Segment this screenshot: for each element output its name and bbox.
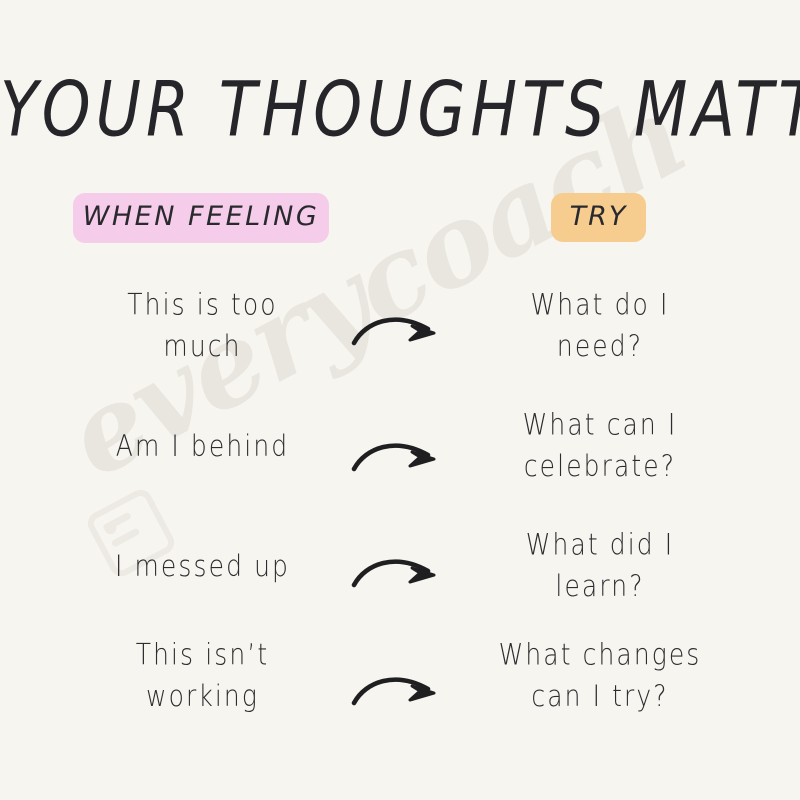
- column-header-try-label: TRY: [570, 203, 628, 230]
- curved-arrow-right-icon: [352, 667, 452, 715]
- feeling-text: Am I behind: [75, 426, 329, 467]
- try-line: can I try?: [470, 677, 729, 718]
- feeling-text: This is too much: [75, 286, 329, 369]
- try-text: What do I need?: [470, 286, 729, 369]
- try-text: What can I celebrate?: [470, 406, 729, 489]
- page-title: YOUR THOUGHTS MATTER: [0, 72, 800, 148]
- curved-arrow-right-icon: [352, 433, 452, 481]
- try-line: What do I: [470, 286, 729, 327]
- thought-row: This is too much What do I need?: [0, 272, 800, 382]
- column-header-when-feeling: WHEN FEELING: [73, 193, 329, 243]
- feeling-line: much: [75, 327, 329, 368]
- try-line: What did I: [470, 526, 729, 567]
- feeling-line: I messed up: [75, 546, 329, 587]
- feeling-text: I messed up: [75, 546, 329, 587]
- feeling-line: This is too: [75, 286, 329, 327]
- feeling-line: This isn’t: [75, 636, 329, 677]
- thought-row: Am I behind What can I celebrate?: [0, 392, 800, 502]
- curved-arrow-right-icon: [352, 307, 452, 355]
- poster-content: YOUR THOUGHTS MATTER WHEN FEELING TRY Th…: [0, 0, 800, 800]
- try-text: What changes can I try?: [470, 636, 729, 719]
- thought-row: This isn’t working What changes can I tr…: [0, 622, 800, 732]
- feeling-line: Am I behind: [75, 426, 329, 467]
- poster-canvas: everycoach YOUR THOUGHTS MATTER WHEN FEE…: [0, 0, 800, 800]
- try-line: need?: [470, 327, 729, 368]
- thought-row: I messed up What did I learn?: [0, 512, 800, 622]
- feeling-line: working: [75, 677, 329, 718]
- feeling-text: This isn’t working: [75, 636, 329, 719]
- column-header-try: TRY: [551, 193, 646, 242]
- try-text: What did I learn?: [470, 526, 729, 609]
- curved-arrow-right-icon: [352, 549, 452, 597]
- try-line: celebrate?: [470, 447, 729, 488]
- try-line: learn?: [470, 567, 729, 608]
- try-line: What changes: [470, 636, 729, 677]
- try-line: What can I: [470, 406, 729, 447]
- column-header-when-feeling-label: WHEN FEELING: [83, 203, 320, 230]
